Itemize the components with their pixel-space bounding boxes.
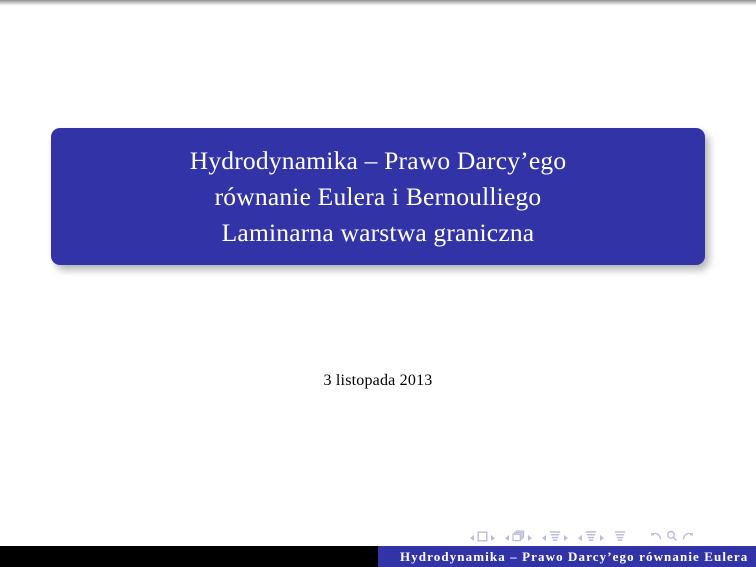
section-navigation-group[interactable] bbox=[578, 529, 604, 547]
title-line-2: równanie Eulera i Bernoulliego bbox=[215, 179, 542, 215]
forward-arrow-icon[interactable] bbox=[681, 529, 694, 547]
footer-right-title-region: Hydrodynamika – Prawo Darcy’ego równanie… bbox=[378, 546, 756, 567]
section-icon[interactable] bbox=[585, 529, 597, 547]
next-subsection-arrow-icon[interactable] bbox=[564, 535, 568, 541]
top-edge-gradient bbox=[0, 0, 756, 6]
subsection-icon[interactable] bbox=[549, 529, 561, 547]
back-arrow-icon[interactable] bbox=[650, 529, 663, 547]
title-line-1: Hydrodynamika – Prawo Darcy’ego bbox=[190, 143, 567, 179]
document-icon[interactable] bbox=[614, 529, 626, 547]
frame-navigation-group[interactable] bbox=[505, 529, 532, 547]
presentation-slide: Hydrodynamika – Prawo Darcy’ego równanie… bbox=[0, 0, 756, 567]
prev-frame-arrow-icon[interactable] bbox=[505, 535, 509, 541]
beamer-navigation-symbols[interactable] bbox=[470, 530, 756, 545]
frame-icon[interactable] bbox=[512, 529, 525, 547]
slide-navigation-group[interactable] bbox=[470, 529, 495, 547]
prev-section-arrow-icon[interactable] bbox=[578, 535, 582, 541]
footer-bar: Hydrodynamika – Prawo Darcy’ego równanie… bbox=[0, 546, 756, 567]
next-slide-arrow-icon[interactable] bbox=[491, 535, 495, 541]
footer-running-title: Hydrodynamika – Prawo Darcy’ego równanie… bbox=[378, 549, 748, 565]
title-line-3: Laminarna warstwa graniczna bbox=[222, 215, 535, 251]
presentation-date: 3 listopada 2013 bbox=[0, 372, 756, 390]
title-block: Hydrodynamika – Prawo Darcy’ego równanie… bbox=[51, 128, 705, 265]
prev-subsection-arrow-icon[interactable] bbox=[542, 535, 546, 541]
next-frame-arrow-icon[interactable] bbox=[528, 535, 532, 541]
title-box: Hydrodynamika – Prawo Darcy’ego równanie… bbox=[51, 128, 705, 265]
prev-slide-arrow-icon[interactable] bbox=[470, 535, 474, 541]
slide-icon[interactable] bbox=[477, 529, 488, 547]
next-section-arrow-icon[interactable] bbox=[600, 535, 604, 541]
history-navigation-group[interactable] bbox=[650, 529, 694, 547]
footer-left-black-region bbox=[0, 546, 378, 567]
document-navigation-group[interactable] bbox=[614, 529, 626, 547]
search-icon[interactable] bbox=[666, 529, 678, 547]
subsection-navigation-group[interactable] bbox=[542, 529, 568, 547]
